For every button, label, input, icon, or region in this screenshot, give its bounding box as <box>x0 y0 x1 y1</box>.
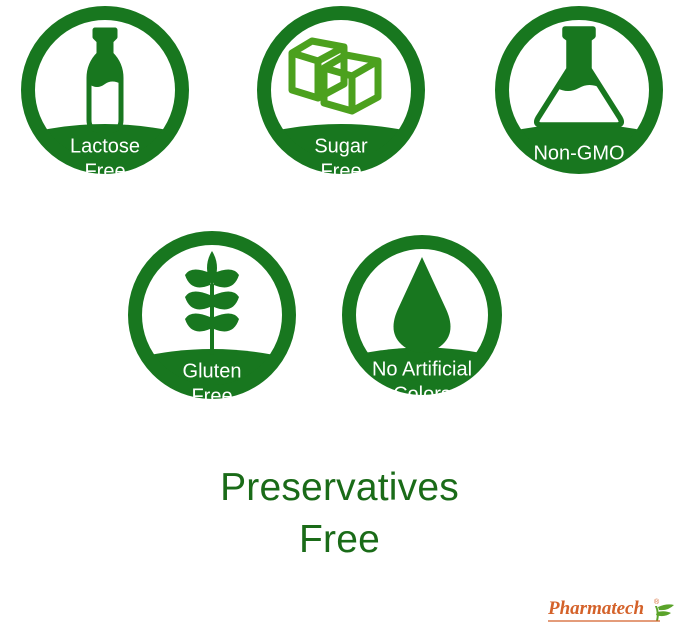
badge-sugar-free[interactable]: Sugar Free <box>256 6 426 176</box>
pharmatech-logo-graphic: Pharmatech ® <box>548 592 676 628</box>
badge-caption-line-1: Non-GMO <box>533 142 624 164</box>
badge-no-artificial-colors[interactable]: No Artificial Colors <box>342 235 504 397</box>
badge-gluten-free-graphic: Gluten Free <box>127 231 297 401</box>
badge-caption-line-1: Lactose <box>70 135 140 157</box>
water-droplet-icon <box>394 257 451 353</box>
leaf-sprig-icon <box>655 604 674 621</box>
flask-icon <box>537 29 622 125</box>
wheat-stalk-icon <box>185 251 239 355</box>
badge-sugar-free-graphic: Sugar Free <box>256 6 426 176</box>
badge-lactose-free-graphic: Lactose Free <box>20 6 190 176</box>
badge-non-gmo-graphic: Non-GMO <box>494 6 664 176</box>
badge-caption-line-1: No Artificial <box>372 358 472 380</box>
badge-non-gmo[interactable]: Non-GMO <box>494 6 664 176</box>
badge-caption-line-2: Colors <box>393 383 451 405</box>
sugar-cubes-icon <box>292 41 378 111</box>
badge-lactose-free[interactable]: Lactose Free <box>20 6 190 176</box>
badge-caption-line-2: Free <box>191 385 232 407</box>
badge-caption-line-1: Gluten <box>183 360 242 382</box>
badge-gluten-free[interactable]: Gluten Free <box>127 231 297 401</box>
pharmatech-logo[interactable]: Pharmatech ® <box>548 592 676 628</box>
badge-no-artificial-colors-graphic: No Artificial Colors <box>342 235 504 397</box>
logo-wordmark: Pharmatech <box>548 598 644 619</box>
milk-bottle-icon <box>89 30 121 130</box>
registered-trademark-symbol: ® <box>654 598 660 606</box>
badge-caption-line-1: Sugar <box>314 135 368 157</box>
preservatives-free-label: Preservatives Free <box>0 462 679 566</box>
badge-caption-line-2: Free <box>84 160 125 182</box>
badge-caption-line-2: Free <box>320 160 361 182</box>
